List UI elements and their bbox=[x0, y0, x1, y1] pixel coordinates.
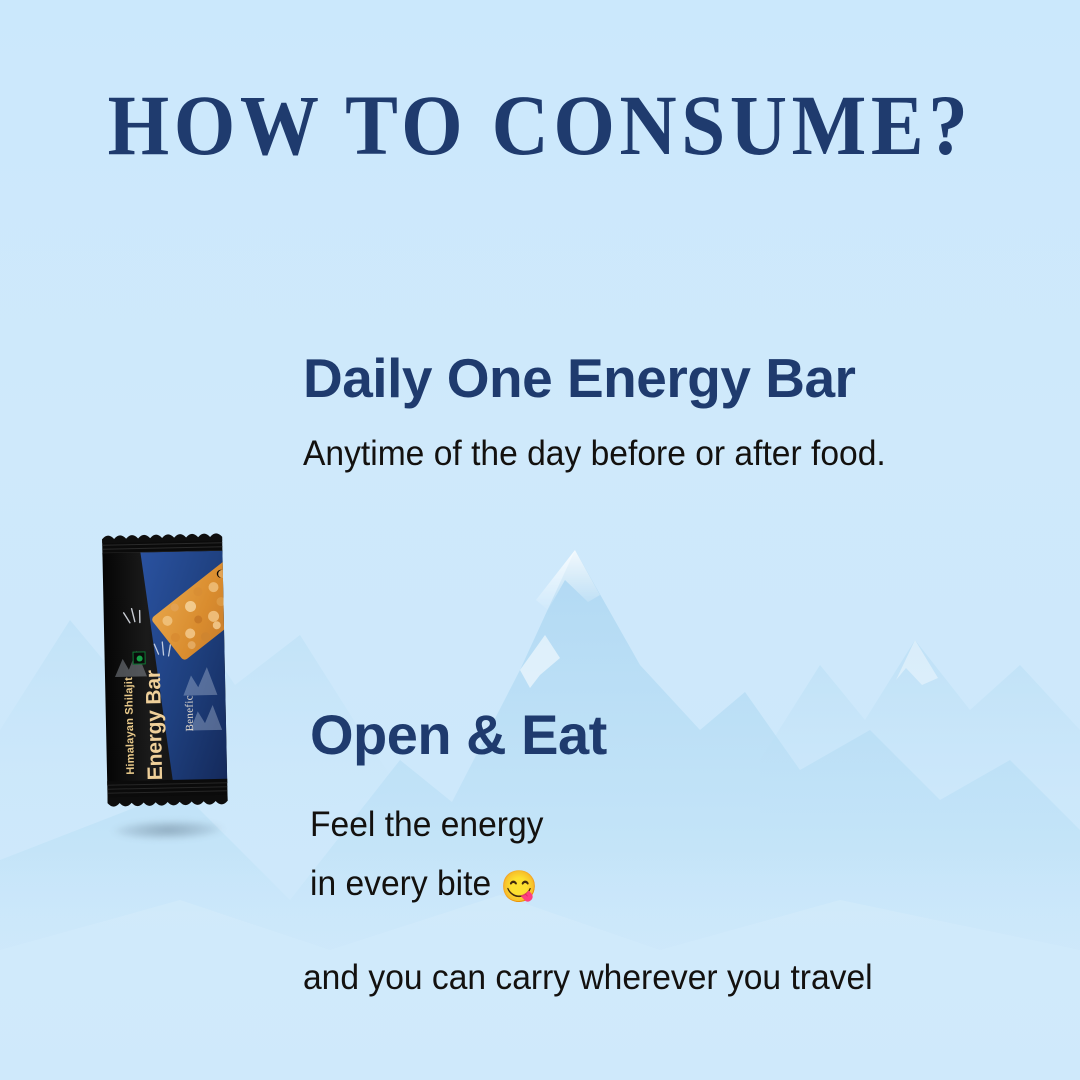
step-body-line-2: in every bite 😋 bbox=[310, 862, 982, 907]
step-text-daily-one: Daily One Energy Bar Anytime of the day … bbox=[303, 350, 1003, 477]
step-body-daily-one: Anytime of the day before or after food. bbox=[303, 432, 975, 477]
step-body-line-2-text: in every bite bbox=[310, 864, 491, 903]
step-text-open-eat: Open & Eat Feel the energy in every bite… bbox=[310, 706, 1010, 1001]
step-body-line-1: Feel the energy bbox=[310, 803, 982, 848]
poster-canvas: HOW TO CONSUME? bbox=[0, 0, 1080, 1080]
step-block-daily-one: Himalayan Shilajit Energy Bar Benefic Da… bbox=[0, 258, 1080, 578]
step-heading-open-eat: Open & Eat bbox=[310, 706, 1010, 765]
step-block-open-eat: Open & Eat Feel the energy in every bite… bbox=[0, 700, 1080, 1020]
step-heading-daily-one: Daily One Energy Bar bbox=[303, 350, 1003, 408]
veg-mark-icon bbox=[132, 651, 145, 664]
step-body-line-3: and you can carry wherever you travel bbox=[303, 956, 982, 1001]
page-title: HOW TO CONSUME? bbox=[43, 82, 1037, 168]
yum-emoji-icon: 😋 bbox=[501, 869, 538, 904]
